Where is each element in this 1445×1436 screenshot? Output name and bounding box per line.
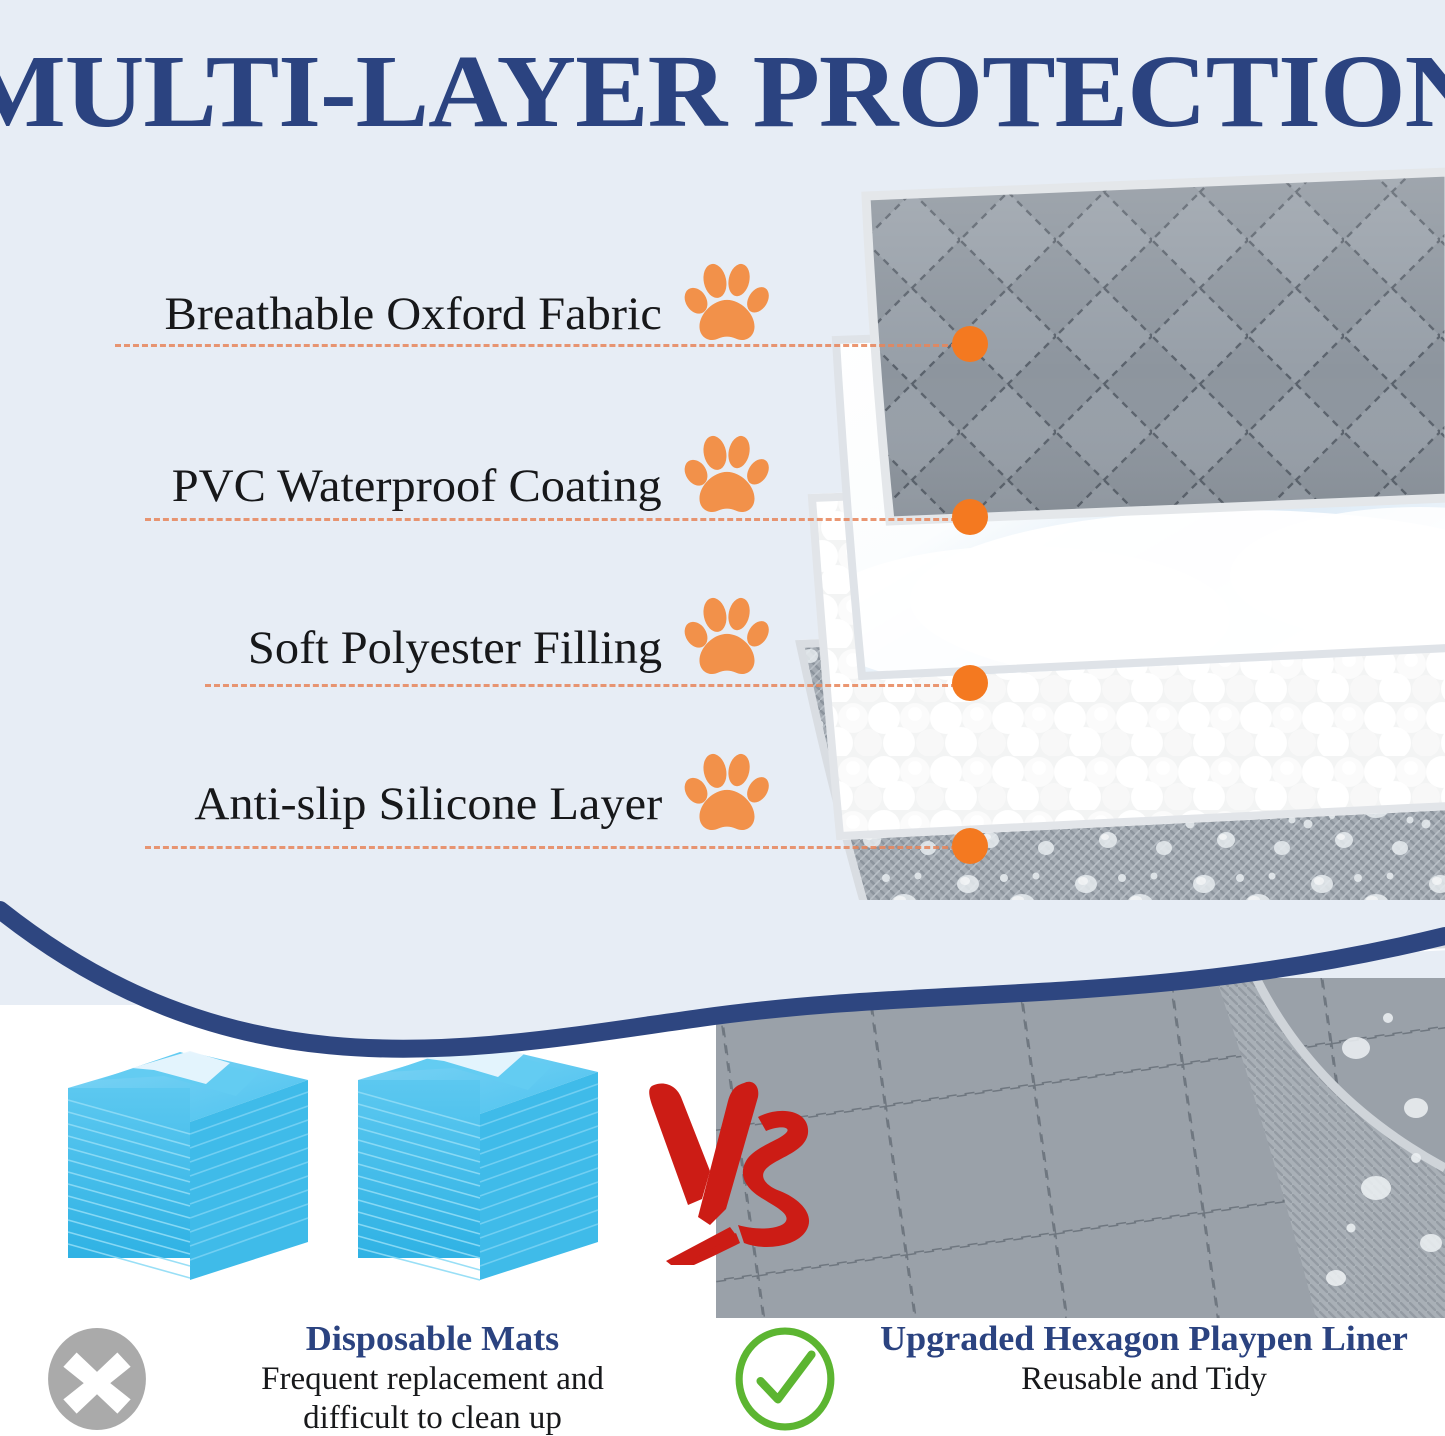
layer-label-row-3: Soft Polyester Filling — [0, 600, 780, 690]
comparison-left-footer: Disposable Mats Frequent replacement and… — [0, 1318, 716, 1436]
connector-line-3 — [205, 684, 975, 687]
layer-label-3: Soft Polyester Filling — [248, 622, 662, 674]
layer-label-2: PVC Waterproof Coating — [172, 460, 662, 512]
comparison-left-text: Disposable Mats Frequent replacement and… — [160, 1318, 705, 1436]
layer-label-row-1: Breathable Oxford Fabric — [0, 266, 780, 356]
orange-dot-3 — [952, 665, 988, 701]
check-circle-icon — [734, 1326, 836, 1432]
comparison-right-heading: Upgraded Hexagon Playpen Liner — [835, 1318, 1445, 1360]
comparison-right-subtext-line1: Reusable and Tidy — [844, 1360, 1444, 1399]
layer-breathable-oxford-fabric — [840, 150, 1445, 550]
vs-label — [640, 1075, 830, 1265]
infographic-poster: MULTI-LAYER PROTECTION — [0, 0, 1445, 1436]
layer-label-1: Breathable Oxford Fabric — [165, 288, 662, 340]
x-circle-icon — [46, 1326, 148, 1432]
comparison-left-subtext-line1: Frequent replacement and — [160, 1360, 705, 1399]
orange-dot-2 — [952, 499, 988, 535]
connector-line-4 — [145, 846, 975, 849]
paw-icon — [684, 752, 770, 838]
layer-label-4: Anti-slip Silicone Layer — [194, 778, 662, 830]
connector-line-2 — [145, 518, 975, 521]
paw-icon — [684, 434, 770, 520]
paw-icon — [684, 262, 770, 348]
orange-dot-1 — [952, 326, 988, 362]
layer-label-row-2: PVC Waterproof Coating — [0, 438, 780, 528]
orange-dot-4 — [952, 828, 988, 864]
paw-icon — [684, 596, 770, 682]
connector-line-1 — [115, 344, 975, 347]
comparison-left-subtext-line2: difficult to clean up — [160, 1399, 705, 1436]
comparison-right-footer: Upgraded Hexagon Playpen Liner Reusable … — [716, 1318, 1445, 1436]
comparison-left-heading: Disposable Mats — [152, 1318, 713, 1360]
layer-label-row-4: Anti-slip Silicone Layer — [0, 756, 780, 846]
comparison-right-text: Upgraded Hexagon Playpen Liner Reusable … — [844, 1318, 1444, 1399]
